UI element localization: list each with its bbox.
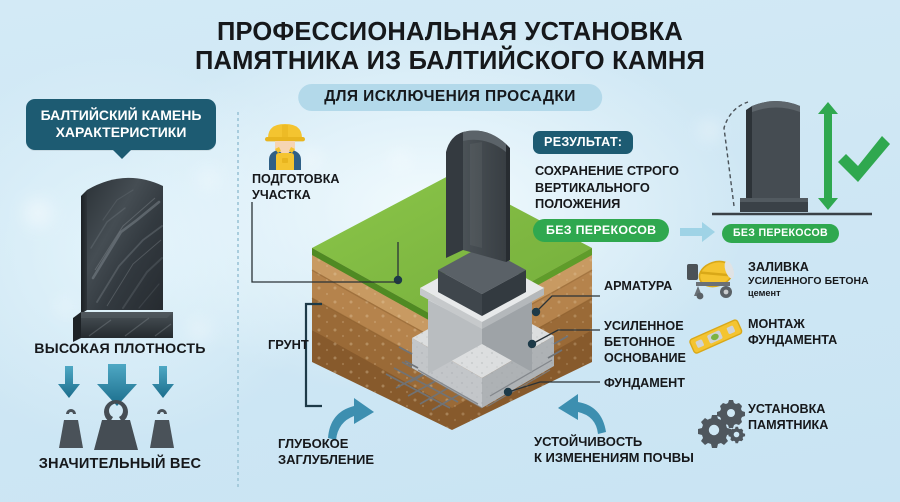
weight-kettlebell-icon <box>150 409 174 448</box>
monument-stele <box>446 131 510 263</box>
deep-placement-label: ГЛУБОКОЕ ЗАГЛУБЛЕНИЕ <box>278 436 374 469</box>
spirit-level-icon <box>688 317 744 357</box>
arrow-down-icon <box>152 366 174 398</box>
result-badge: РЕЗУЛЬТАТ: <box>533 131 633 154</box>
result-line-2: ВЕРТИКАЛЬНОГО <box>535 180 679 197</box>
callout-foundation-label: ФУНДАМЕНТ <box>604 376 685 390</box>
arrow-up-icon <box>300 400 330 430</box>
soil-stability-label: УСТОЙЧИВОСТЬ К ИЗМЕНЕНИЯМ ПОЧВЫ <box>534 434 694 467</box>
site-prep-connector <box>250 200 410 290</box>
stability-line-1: УСТОЙЧИВОСТЬ <box>534 434 694 450</box>
weight-kettlebell-icon <box>94 400 138 450</box>
weight-group <box>40 364 200 452</box>
weight-label: ЗНАЧИТЕЛЬНЫЙ ВЕС <box>0 456 240 472</box>
granite-monument-photo <box>63 160 183 350</box>
install-line-1: МОНТАЖ <box>748 317 837 331</box>
page-title: ПРОФЕССИОНАЛЬНАЯ УСТАНОВКА ПАМЯТНИКА ИЗ … <box>0 18 900 76</box>
arrow-down-icon <box>58 366 80 398</box>
install-line-2: ФУНДАМЕНТА <box>748 333 837 347</box>
base-line-1: УСИЛЕННОЕ <box>604 318 686 334</box>
vertical-dotted-divider <box>237 112 239 490</box>
density-label: ВЫСОКАЯ ПЛОТНОСТЬ <box>0 341 240 357</box>
callout-rebar-label: АРМАТУРА <box>604 279 672 293</box>
vertical-alignment-diagram <box>706 98 896 226</box>
glow-blob <box>25 200 51 226</box>
no-tilt-pill-right: БЕЗ ПЕРЕКОСОВ <box>722 224 839 243</box>
callout-reinforced-base-label: УСИЛЕННОЕ БЕТОННОЕ ОСНОВАНИЕ <box>604 318 686 366</box>
no-tilt-pill: БЕЗ ПЕРЕКОСОВ <box>533 219 669 242</box>
check-mark-icon <box>838 136 890 182</box>
left-panel-heading: БАЛТИЙСКИЙ КАМЕНЬ ХАРАКТЕРИСТИКИ <box>26 99 216 150</box>
left-heading-line-2: ХАРАКТЕРИСТИКИ <box>32 124 210 141</box>
glow-blob <box>188 320 210 342</box>
monument-install-line-2: ПАМЯТНИКА <box>748 418 828 432</box>
monument-install-line-1: УСТАНОВКА <box>748 402 828 416</box>
subtitle-pill: ДЛЯ ИСКЛЮЧЕНИЯ ПРОСАДКИ <box>298 84 602 111</box>
base-line-2: БЕТОННОЕ <box>604 334 686 350</box>
gears-icon <box>688 398 746 446</box>
result-text: СОХРАНЕНИЕ СТРОГО ВЕРТИКАЛЬНОГО ПОЛОЖЕНИ… <box>535 163 679 213</box>
arrow-down-icon <box>97 364 137 406</box>
infographic-canvas: ПРОФЕССИОНАЛЬНАЯ УСТАНОВКА ПАМЯТНИКА ИЗ … <box>0 0 900 502</box>
weight-kettlebell-icon <box>59 409 83 448</box>
deep-line-2: ЗАГЛУБЛЕНИЕ <box>278 452 374 468</box>
title-line-1: ПРОФЕССИОНАЛЬНАЯ УСТАНОВКА <box>0 18 900 47</box>
arrow-up-left-curved-icon <box>556 392 614 436</box>
pour-line-2: УСИЛЕННОГО БЕТОНА <box>748 276 869 287</box>
glow-blob <box>200 170 218 188</box>
pour-line-1: ЗАЛИВКА <box>748 260 869 274</box>
result-line-3: ПОЛОЖЕНИЯ <box>535 196 679 213</box>
double-arrow-vertical-icon <box>818 102 838 210</box>
result-line-1: СОХРАНЕНИЕ СТРОГО <box>535 163 679 180</box>
pour-line-3: цемент <box>748 288 869 298</box>
title-line-2: ПАМЯТНИКА ИЗ БАЛТИЙСКОГО КАМНЯ <box>0 47 900 76</box>
left-heading-line-1: БАЛТИЙСКИЙ КАМЕНЬ <box>32 107 210 124</box>
deep-line-1: ГЛУБОКОЕ <box>278 436 374 452</box>
concrete-mixer-icon <box>686 258 740 300</box>
stability-line-2: К ИЗМЕНЕНИЯМ ПОЧВЫ <box>534 450 694 466</box>
ground-label: ГРУНТ <box>268 337 309 352</box>
base-line-3: ОСНОВАНИЕ <box>604 350 686 366</box>
